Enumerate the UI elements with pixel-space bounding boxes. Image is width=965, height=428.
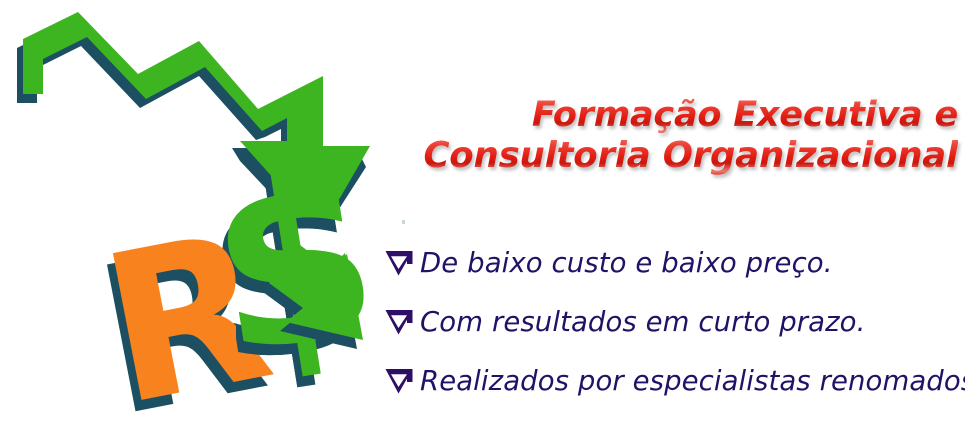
list-item: De baixo custo e baixo preço. [383,233,958,292]
promo-banner: $ $ R R $ $ [0,0,965,428]
headline: Formação Executiva e Consultoria Organiz… [380,96,958,176]
arrow-bullet-icon [383,248,415,278]
list-item-label: Realizados por especialistas renomados. [420,365,965,397]
scan-speck [402,220,405,224]
list-item: Realizados por especialistas renomados. [383,351,958,410]
arrow-bullet-icon [383,366,415,396]
falling-arrow-currency-graphic: $ $ R R $ $ [0,0,400,428]
headline-line-1: Formação Executiva e [380,96,958,136]
benefits-list: De baixo custo e baixo preço. Com result… [383,233,958,410]
list-item-label: Com resultados em curto prazo. [420,306,865,338]
list-item-label: De baixo custo e baixo preço. [420,247,833,279]
headline-line-2: Consultoria Organizacional [380,136,958,176]
arrow-bullet-icon [383,307,415,337]
list-item: Com resultados em curto prazo. [383,292,958,351]
